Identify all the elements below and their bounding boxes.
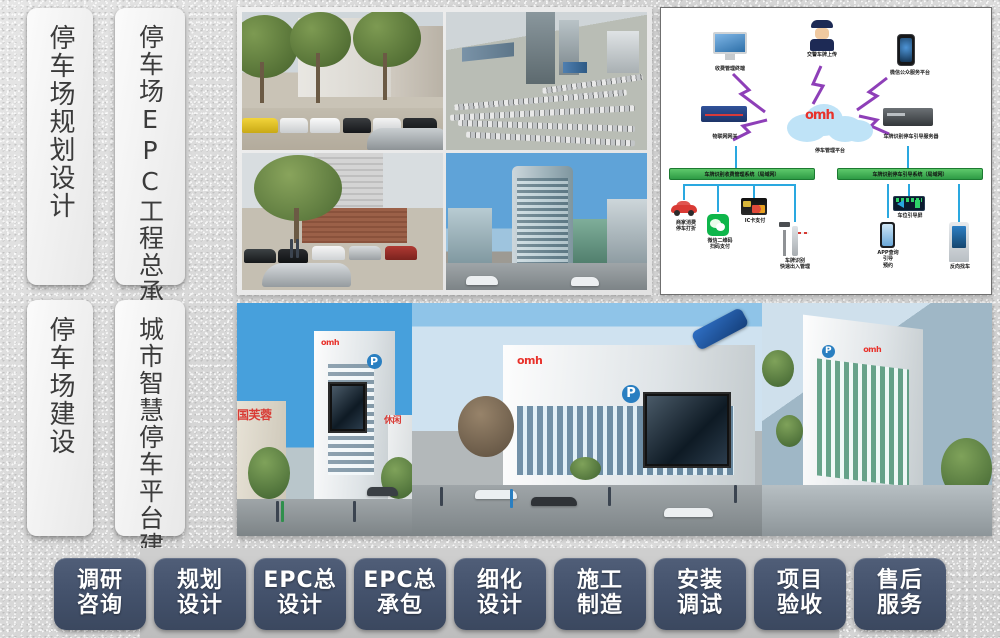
process-step-research-consulting[interactable]: 调研 咨询 [54,558,146,630]
label-parking-management-platform: 停车管理平台 [789,148,871,154]
photo-aerial-parking-lot [446,12,647,150]
wire-branch-4 [794,184,796,222]
node-plate-fast-entry-exit [779,222,809,256]
step-line2: 承包 [377,594,423,619]
node-traffic-police-plate-upload [809,20,835,50]
process-step-after-sales-service[interactable]: 售后 服务 [854,558,946,630]
wire-branch-3 [753,184,755,198]
rendering-side-sign: 国芙蓉 [237,406,272,423]
rendering-podium-garage: omh P [412,303,762,536]
step-line2: 咨询 [77,594,123,619]
label-traffic-police-plate-upload: 交警车牌上传 [781,52,863,58]
sidebar-card-label: 停车场EPC工程总承包 [137,8,164,333]
label-iot-gateway: 物联网网关 [689,134,761,140]
node-wechat-public-service-platform [897,34,915,66]
label-ic-card-payment: IC卡支付 [731,218,779,224]
wechat-icon [707,214,729,236]
cloud-parking-management-platform: omh [787,104,873,144]
step-line2: 验收 [777,594,823,619]
process-step-planning-design[interactable]: 规划 设计 [154,558,246,630]
wire-branch-left-bus [683,184,795,186]
label-reverse-car-finding: 反向找车 [933,264,987,270]
process-step-construction-manufacturing[interactable]: 施工 制造 [554,558,646,630]
sidebar-card-parking-construction[interactable]: 停车场建设 [27,300,93,536]
process-step-epc-general-contracting[interactable]: EPC总 承包 [354,558,446,630]
monitor-icon [713,32,747,62]
photo-collage-panel [237,7,652,295]
rendering-logo: omh [863,345,881,354]
step-line2: 服务 [877,594,923,619]
step-line1: 施工 [577,569,623,594]
step-line1: 安装 [677,569,723,594]
process-step-detailed-design[interactable]: 细化 设计 [454,558,546,630]
police-officer-icon [809,20,835,50]
architectural-renderings-panel: omh P 国芙蓉 休闲 omh P omh P [237,303,992,536]
wire-branch-right-3 [958,184,960,222]
rendering-aerial-tower: omh P [762,303,992,536]
node-iot-gateway [701,106,747,122]
barrier-gate-icon [779,222,809,256]
node-toll-management-terminal [713,32,747,62]
step-line1: 项目 [777,569,823,594]
photo-open-lot-brick-building [242,153,443,291]
ic-card-icon [741,198,767,215]
process-steps: 调研 咨询 规划 设计 EPC总 设计 EPC总 承包 细化 设计 施工 制造 … [0,558,1000,638]
step-line2: 设计 [177,594,223,619]
wire-branch-2 [717,184,719,212]
wire-right-drop [907,146,909,168]
step-line1: EPC总 [263,569,336,594]
guidance-screen-icon [893,196,925,211]
self-service-kiosk-icon [949,222,969,262]
wire-left-drop [735,146,737,168]
step-line2: 制造 [577,594,623,619]
sidebar-card-parking-planning-design[interactable]: 停车场规划设计 [27,8,93,285]
step-line1: 规划 [177,569,223,594]
node-app-query-guidance-booking [880,222,895,248]
server-rack-icon [883,108,933,126]
wire-branch-1 [683,184,685,200]
sidebar-card-smart-city-parking-platform[interactable]: 城市智慧停车平台建设 [115,300,185,536]
sidebar-card-label: 停车场建设 [46,300,74,456]
process-step-project-acceptance[interactable]: 项目 验收 [754,558,846,630]
step-line2: 调试 [677,594,723,619]
step-line2: 设计 [477,594,523,619]
app-phone-icon [880,222,895,248]
photo-street-parking-lot [242,12,443,150]
step-line1: EPC总 [363,569,436,594]
label-merchant-discount-parking: 商家消费 停车打折 [661,220,711,233]
node-ic-card-payment [741,198,767,215]
label-wechat-qr-payment: 微信二维码 扫码支付 [693,238,747,251]
sidebar-card-parking-epc-contracting[interactable]: 停车场EPC工程总承包 [115,8,185,285]
smartphone-icon [897,34,915,66]
parking-p-mark: P [367,354,382,369]
step-line1: 售后 [877,569,923,594]
node-wechat-qr-payment [707,214,729,236]
label-toll-management-terminal: 收费管理终端 [689,66,771,72]
node-merchant-discount-parking [671,200,697,216]
system-architecture-diagram: 收费管理终端 交警车牌上传 微信公众服务平台 物联网网关 omh 停车管理平台 … [660,7,992,295]
rendering-side-sign-2: 休闲 [384,413,401,426]
node-plate-recognition-guidance-server [883,108,933,126]
step-line1: 调研 [77,569,123,594]
label-parking-guidance-screen: 车位引导屏 [873,213,947,219]
step-line2: 设计 [277,594,323,619]
photo-glass-office-tower [446,153,647,291]
system-bar-plate-recognition-guidance: 车牌识别停车引导系统（局域网） [837,168,983,180]
step-line1: 细化 [477,569,523,594]
omh-logo: omh [805,108,834,123]
red-car-icon [671,200,697,216]
system-bar-plate-recognition-toll: 车牌识别收费管理系统（局域网） [669,168,815,180]
label-plate-fast-entry-exit: 车牌识别 快速出入管理 [765,258,825,271]
node-parking-guidance-screen [893,196,925,211]
photo-grid [242,12,647,290]
sidebar-card-label: 停车场规划设计 [46,8,74,220]
gateway-device-icon [701,106,747,122]
parking-p-mark: P [622,385,640,403]
rendering-logo: omh [321,338,339,347]
sidebar-card-label: 城市智慧停车平台建设 [137,300,164,586]
parking-p-mark: P [822,345,835,358]
rendering-logo: omh [517,354,542,367]
process-step-epc-overall-design[interactable]: EPC总 设计 [254,558,346,630]
node-reverse-car-finding [949,222,969,262]
label-wechat-public-service-platform: 微信公众服务平台 [867,70,953,76]
rendering-tower-garage: omh P 国芙蓉 休闲 [237,303,412,536]
label-plate-recognition-guidance-server: 车牌识别停车引导服务器 [863,134,959,140]
process-step-installation-commissioning[interactable]: 安装 调试 [654,558,746,630]
label-app-query-guidance-booking: APP查询 引导 预约 [859,250,917,269]
